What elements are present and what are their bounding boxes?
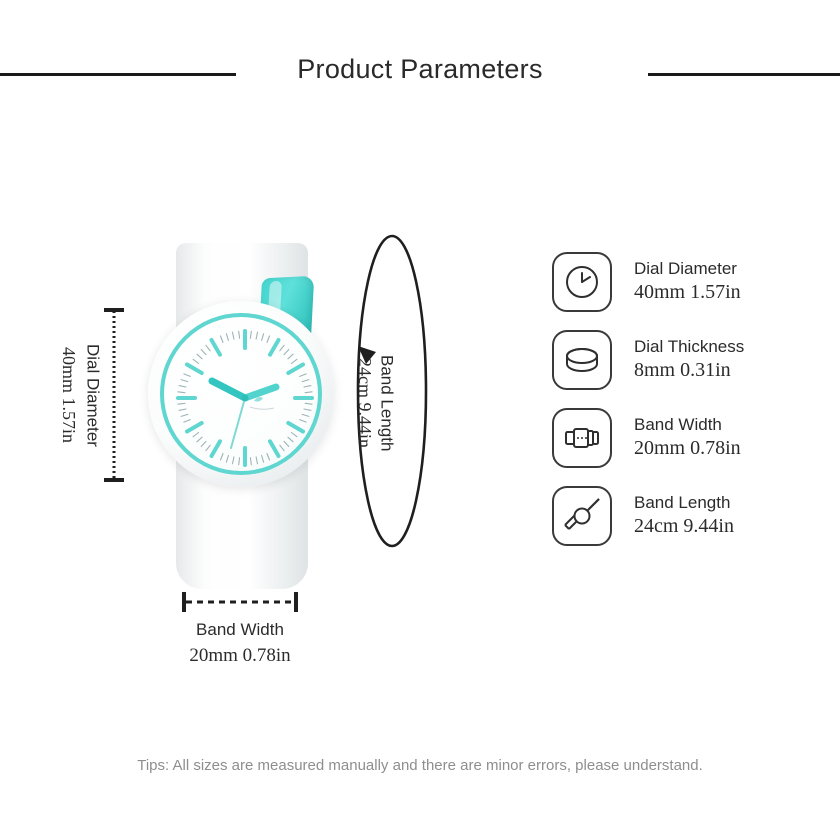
spec-row-dial-diameter: Dial Diameter 40mm 1.57in	[552, 243, 840, 321]
spec-value-band-width: 20mm 0.78in	[634, 437, 741, 461]
dial-diameter-icon	[552, 252, 612, 312]
annotation-band-length: Band Length 24cm 9.44in	[332, 228, 452, 553]
band-length-annotation-label: Band Length	[376, 308, 398, 498]
spec-label-band-length: Band Length	[634, 493, 734, 513]
watch-case	[148, 301, 334, 487]
page-header: Product Parameters	[0, 0, 840, 150]
title-rule-right	[648, 73, 840, 76]
dial-diameter-annotation-value-text: 40mm 1.57in	[60, 347, 78, 443]
spec-row-dial-thickness: Dial Thickness 8mm 0.31in	[552, 321, 840, 399]
band-length-icon	[552, 486, 612, 546]
band-width-icon	[552, 408, 612, 468]
dial-diameter-annotation-label-text: Dial Diameter	[85, 344, 102, 447]
spec-text-band-width: Band Width 20mm 0.78in	[634, 415, 741, 461]
dimension-line-horizontal-icon	[180, 590, 300, 614]
spec-label-dial-diameter: Dial Diameter	[634, 259, 741, 279]
dial-diameter-annotation-label: Dial Diameter	[82, 305, 104, 485]
spec-text-dial-thickness: Dial Thickness 8mm 0.31in	[634, 337, 744, 383]
band-width-annotation-value: 20mm 0.78in	[140, 645, 340, 667]
spec-value-band-length: 24cm 9.44in	[634, 515, 734, 539]
spec-list: Dial Diameter 40mm 1.57in Dial Thickness…	[552, 243, 840, 555]
dial-diameter-annotation-value: 40mm 1.57in	[58, 305, 80, 485]
page-title: Product Parameters	[0, 54, 840, 85]
band-length-annotation-value: 24cm 9.44in	[354, 308, 376, 498]
footer-tip: Tips: All sizes are measured manually an…	[0, 757, 840, 774]
dimension-line-vertical-icon	[102, 305, 126, 485]
spec-value-dial-diameter: 40mm 1.57in	[634, 281, 741, 305]
spec-text-band-length: Band Length 24cm 9.44in	[634, 493, 734, 539]
annotation-dial-diameter: Dial Diameter 40mm 1.57in	[40, 305, 126, 485]
watch-bezel	[160, 313, 322, 475]
spec-text-dial-diameter: Dial Diameter 40mm 1.57in	[634, 259, 741, 305]
spec-label-dial-thickness: Dial Thickness	[634, 337, 744, 357]
annotation-band-width: Band Width 20mm 0.78in	[140, 590, 340, 680]
band-width-annotation-label: Band Width	[140, 620, 340, 640]
watch-dial-markings	[168, 321, 322, 475]
band-length-annotation-label-text: Band Length	[379, 355, 396, 451]
dial-thickness-icon	[552, 330, 612, 390]
band-length-annotation-value-text: 24cm 9.44in	[356, 358, 374, 448]
spec-label-band-width: Band Width	[634, 415, 741, 435]
spec-row-band-length: Band Length 24cm 9.44in	[552, 477, 840, 555]
spec-value-dial-thickness: 8mm 0.31in	[634, 359, 744, 383]
watch-product-image	[128, 225, 358, 585]
spec-row-band-width: Band Width 20mm 0.78in	[552, 399, 840, 477]
watch-dial	[168, 321, 314, 467]
